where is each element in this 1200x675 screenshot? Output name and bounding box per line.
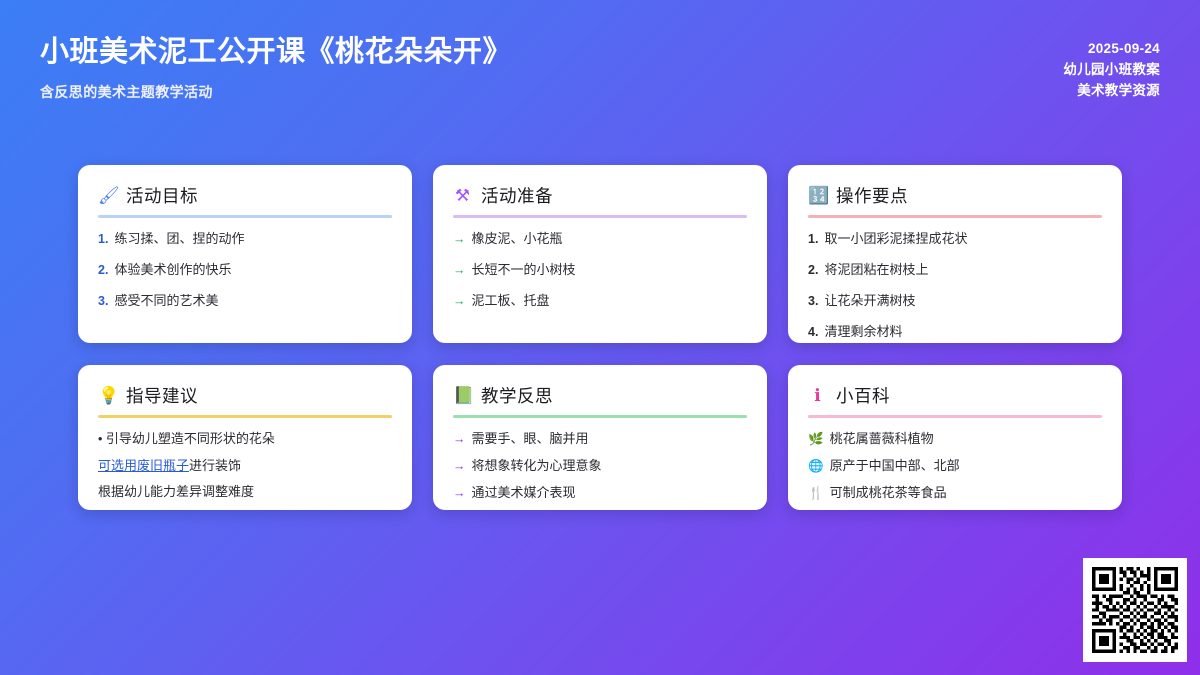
body-line-label: 引导幼儿塑造不同形状的花朵 (106, 431, 275, 446)
list-item-marker: → (453, 485, 466, 502)
green-book-icon: 📗 (453, 387, 472, 404)
list-item-marker: 4. (808, 324, 818, 341)
list-item-label: 橡皮泥、小花瓶 (472, 230, 563, 248)
list-item: →通过美术媒介表现 (453, 484, 747, 502)
list-item: 3.让花朵开满树枝 (808, 292, 1102, 310)
card-activity-preparation: ⚒活动准备→橡皮泥、小花瓶→长短不一的小树枝→泥工板、托盘 (433, 165, 767, 343)
card-activity-goals: 🖌活动目标1.练习揉、团、捏的动作2.体验美术创作的快乐3.感受不同的艺术美 (78, 165, 412, 343)
body-line-label: 根据幼儿能力差异调整难度 (98, 484, 254, 499)
card-divider (453, 415, 747, 418)
list-item: 1.练习揉、团、捏的动作 (98, 230, 392, 248)
list-item-label: 练习揉、团、捏的动作 (114, 230, 244, 248)
slide-root: 小班美术泥工公开课《桃花朵朵开》 含反思的美术主题教学活动 2025-09-24… (0, 0, 1200, 675)
list-item-label: 桃花属蔷薇科植物 (830, 430, 934, 448)
list-item-marker: → (453, 231, 466, 248)
card-header: ⚒活动准备 (453, 183, 747, 215)
card-operation-points: 🔢操作要点1.取一小团彩泥揉捏成花状2.将泥团粘在树枝上3.让花朵开满树枝4.清… (788, 165, 1122, 343)
list-item-label: 清理剩余材料 (824, 323, 902, 341)
header-category: 幼儿园小班教案 (1063, 59, 1160, 80)
list-item: 🌿桃花属蔷薇科植物 (808, 430, 1102, 448)
list-item-marker: → (453, 431, 466, 448)
bullet-marker: • (98, 432, 106, 446)
inline-link[interactable]: 可选用废旧瓶子 (98, 458, 189, 473)
card-divider (98, 215, 392, 218)
list-item-label: 让花朵开满树枝 (824, 292, 915, 310)
card-title: 操作要点 (836, 183, 908, 208)
list-item-label: 需要手、眼、脑并用 (472, 430, 589, 448)
card-list: 1.取一小团彩泥揉捏成花状2.将泥团粘在树枝上3.让花朵开满树枝4.清理剩余材料 (808, 230, 1102, 341)
card-teaching-reflection: 📗教学反思→需要手、眼、脑并用→将想象转化为心理意象→通过美术媒介表现 (433, 365, 767, 510)
list-item: 2.体验美术创作的快乐 (98, 261, 392, 279)
list-item: →橡皮泥、小花瓶 (453, 230, 747, 248)
page-title: 小班美术泥工公开课《桃花朵朵开》 (40, 34, 1160, 70)
list-item: 4.清理剩余材料 (808, 323, 1102, 341)
header-date: 2025-09-24 (1063, 38, 1160, 59)
card-header: 💡指导建议 (98, 383, 392, 415)
card-body: • 引导幼儿塑造不同形状的花朵可选用废旧瓶子进行装饰根据幼儿能力差异调整难度 (98, 430, 392, 501)
list-item: →将想象转化为心理意象 (453, 457, 747, 475)
lightbulb-icon: 💡 (98, 387, 117, 404)
list-item: 2.将泥团粘在树枝上 (808, 261, 1102, 279)
body-line: 可选用废旧瓶子进行装饰 (98, 457, 392, 475)
body-line: 根据幼儿能力差异调整难度 (98, 483, 392, 501)
list-item: 🌐原产于中国中部、北部 (808, 457, 1102, 475)
list-item-marker: 🌐 (808, 458, 824, 475)
list-item-marker: 🍴 (808, 485, 824, 502)
list-item-marker: 1. (98, 231, 108, 248)
list-item-label: 体验美术创作的快乐 (114, 261, 231, 279)
card-title: 活动准备 (481, 183, 553, 208)
list-item-marker: 1. (808, 231, 818, 248)
paintbrush-icon: 🖌 (98, 187, 117, 204)
card-encyclopedia: ℹ小百科🌿桃花属蔷薇科植物🌐原产于中国中部、北部🍴可制成桃花茶等食品 (788, 365, 1122, 510)
list-item-marker: 2. (808, 262, 818, 279)
body-line: • 引导幼儿塑造不同形状的花朵 (98, 430, 392, 448)
card-divider (453, 215, 747, 218)
card-title: 小百科 (836, 383, 890, 408)
list-item-label: 将泥团粘在树枝上 (824, 261, 928, 279)
card-header: ℹ小百科 (808, 383, 1102, 415)
list-item: 3.感受不同的艺术美 (98, 292, 392, 310)
card-list: →需要手、眼、脑并用→将想象转化为心理意象→通过美术媒介表现 (453, 430, 747, 502)
list-item-label: 将想象转化为心理意象 (472, 457, 602, 475)
card-header: 📗教学反思 (453, 383, 747, 415)
list-item-marker: → (453, 262, 466, 279)
list-item-marker: → (453, 458, 466, 475)
info-circle-icon: ℹ (808, 387, 827, 404)
card-title: 教学反思 (481, 383, 553, 408)
card-divider (98, 415, 392, 418)
list-item-label: 泥工板、托盘 (472, 292, 550, 310)
list-item: →长短不一的小树枝 (453, 261, 747, 279)
card-title: 指导建议 (126, 383, 198, 408)
list-item-marker: 2. (98, 262, 108, 279)
list-item: →泥工板、托盘 (453, 292, 747, 310)
card-list: 1.练习揉、团、捏的动作2.体验美术创作的快乐3.感受不同的艺术美 (98, 230, 392, 310)
list-item-label: 长短不一的小树枝 (472, 261, 576, 279)
tools-icon: ⚒ (453, 187, 472, 204)
list-item-label: 原产于中国中部、北部 (830, 457, 960, 475)
list-item-label: 感受不同的艺术美 (114, 292, 218, 310)
list-item-label: 取一小团彩泥揉捏成花状 (824, 230, 967, 248)
qr-code[interactable] (1083, 558, 1187, 662)
card-header: 🔢操作要点 (808, 183, 1102, 215)
list-item-marker: 🌿 (808, 431, 824, 448)
card-grid: 🖌活动目标1.练习揉、团、捏的动作2.体验美术创作的快乐3.感受不同的艺术美⚒活… (78, 165, 1122, 510)
card-divider (808, 415, 1102, 418)
body-line-label: 进行装饰 (189, 458, 241, 473)
card-guidance-suggestions: 💡指导建议• 引导幼儿塑造不同形状的花朵可选用废旧瓶子进行装饰根据幼儿能力差异调… (78, 365, 412, 510)
header-meta: 2025-09-24 幼儿园小班教案 美术教学资源 (1063, 38, 1160, 101)
card-list: 🌿桃花属蔷薇科植物🌐原产于中国中部、北部🍴可制成桃花茶等食品 (808, 430, 1102, 502)
numbered-list-icon: 🔢 (808, 187, 827, 204)
page-subtitle: 含反思的美术主题教学活动 (40, 82, 1160, 102)
card-title: 活动目标 (126, 183, 198, 208)
list-item-marker: 3. (98, 293, 108, 310)
qr-code-image (1092, 567, 1178, 653)
card-divider (808, 215, 1102, 218)
header-source: 美术教学资源 (1063, 80, 1160, 101)
list-item-label: 通过美术媒介表现 (472, 484, 576, 502)
list-item-marker: → (453, 293, 466, 310)
card-list: →橡皮泥、小花瓶→长短不一的小树枝→泥工板、托盘 (453, 230, 747, 310)
list-item-label: 可制成桃花茶等食品 (830, 484, 947, 502)
list-item: 1.取一小团彩泥揉捏成花状 (808, 230, 1102, 248)
list-item-marker: 3. (808, 293, 818, 310)
list-item: 🍴可制成桃花茶等食品 (808, 484, 1102, 502)
list-item: →需要手、眼、脑并用 (453, 430, 747, 448)
slide-header: 小班美术泥工公开课《桃花朵朵开》 含反思的美术主题教学活动 2025-09-24… (0, 0, 1200, 150)
card-header: 🖌活动目标 (98, 183, 392, 215)
